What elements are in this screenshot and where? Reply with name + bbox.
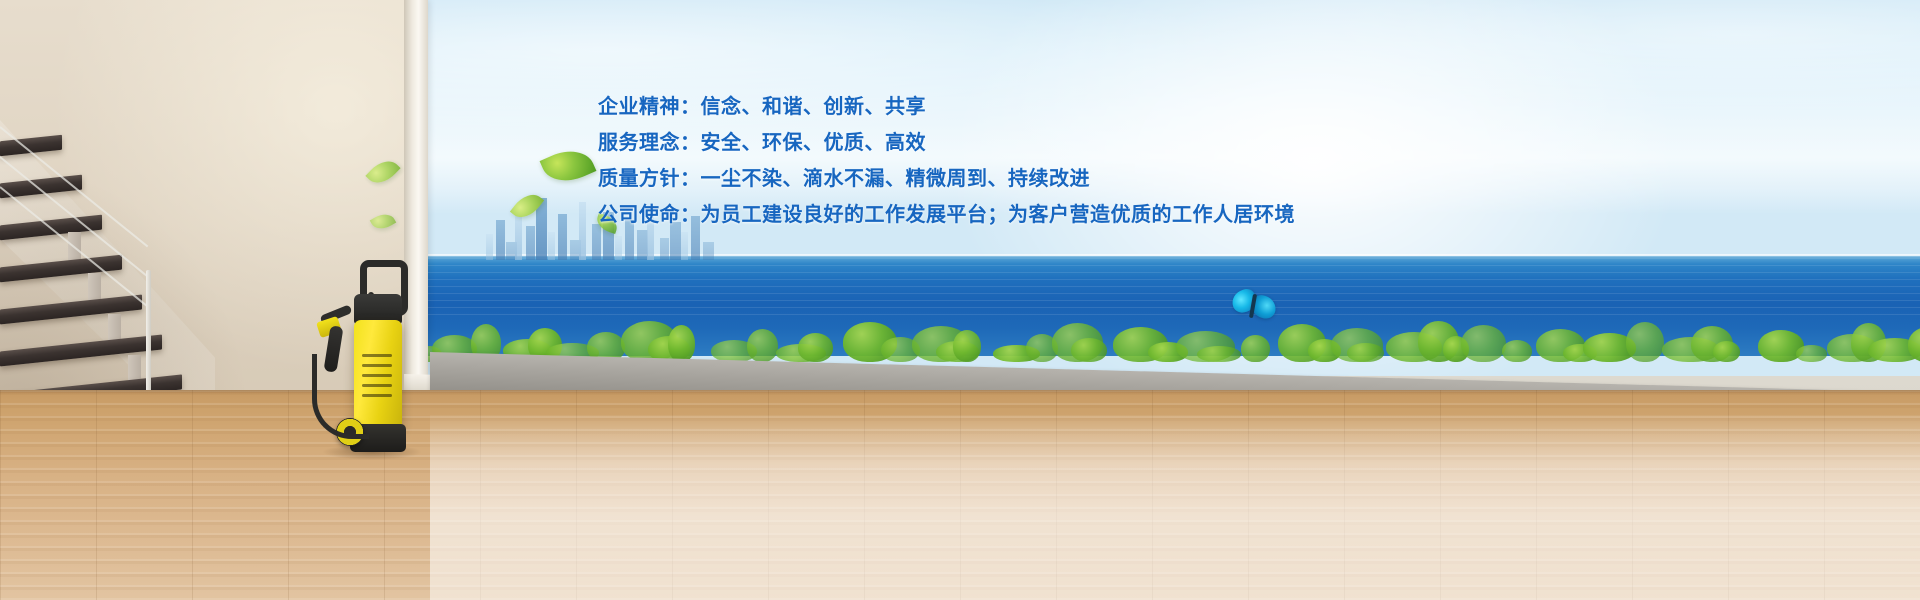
tree (747, 329, 778, 362)
culture-banner: 企业精神：信念、和谐、创新、共享服务理念：安全、环保、优质、高效质量方针：一尘不… (0, 0, 1920, 600)
skyline-building (496, 220, 505, 260)
values-line-2: 服务理念：安全、环保、优质、高效 (598, 124, 1358, 160)
tree (798, 333, 833, 362)
skyline-building (486, 234, 493, 260)
values-line-1: 企业精神：信念、和谐、创新、共享 (598, 88, 1358, 124)
values-line-4: 公司使命：为员工建设良好的工作发展平台；为客户营造优质的工作人居环境 (598, 196, 1358, 232)
floor-wall-joint (0, 390, 1920, 394)
floor-reflection (430, 415, 1920, 600)
washer-spray-gun (314, 310, 354, 376)
tree (668, 325, 695, 362)
tree (1713, 341, 1740, 362)
skyline-building (681, 232, 688, 260)
treeline (426, 298, 1920, 362)
skyline-building (526, 226, 535, 260)
skyline-building (660, 238, 669, 260)
skyline-building (615, 236, 622, 260)
corporate-values-text: 企业精神：信念、和谐、创新、共享服务理念：安全、环保、优质、高效质量方针：一尘不… (598, 88, 1358, 232)
skyline-building (703, 242, 714, 260)
tree (1197, 346, 1241, 362)
skyline-building (558, 214, 567, 260)
values-line-3: 质量方针：一尘不染、滴水不漏、精微周到、持续改进 (598, 160, 1358, 196)
butterfly-icon (1232, 288, 1276, 326)
skyline-building (579, 202, 586, 260)
skyline-building (548, 232, 555, 260)
tree (1796, 345, 1827, 362)
tree (1461, 325, 1506, 362)
tree (1626, 322, 1664, 362)
tree (1241, 335, 1270, 362)
tree (1347, 343, 1384, 362)
tree (953, 330, 981, 362)
pressure-washer (312, 258, 424, 458)
tree (1502, 340, 1532, 362)
tree (1071, 338, 1107, 362)
